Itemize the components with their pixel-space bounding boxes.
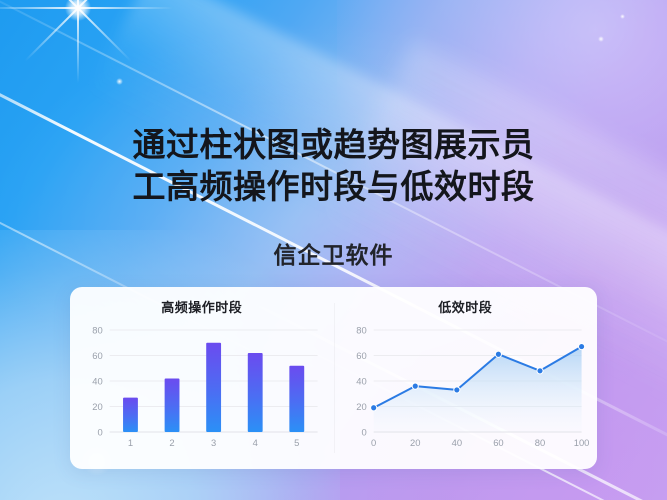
svg-text:60: 60 [356, 351, 366, 362]
svg-text:5: 5 [294, 438, 299, 449]
bar-chart-title: 高频操作时段 [78, 297, 326, 316]
lens-flare-icon [18, 0, 138, 68]
svg-text:60: 60 [493, 438, 503, 449]
page-title-line-1: 通过柱状图或趋势图展示员 [0, 124, 667, 166]
bar-chart-card: 高频操作时段 020406080 12345 [70, 287, 334, 469]
bar-chart-plot: 020406080 12345 [78, 320, 326, 458]
svg-text:60: 60 [92, 351, 102, 362]
line-chart-card: 低效时段 020406080 020406080100 [334, 287, 598, 469]
bar-chart-bars [123, 343, 304, 432]
svg-text:4: 4 [253, 438, 258, 449]
svg-text:1: 1 [128, 438, 133, 449]
svg-text:100: 100 [573, 438, 589, 449]
page-subtitle: 信企卫软件 [0, 236, 667, 270]
svg-text:3: 3 [211, 438, 216, 449]
line-chart-svg: 020406080 020406080100 [342, 320, 590, 458]
page-title: 通过柱状图或趋势图展示员 工高频操作时段与低效时段 [0, 124, 667, 208]
svg-text:20: 20 [410, 438, 420, 449]
line-chart-y-tick-labels: 020406080 [356, 325, 366, 438]
svg-text:0: 0 [371, 438, 376, 449]
svg-text:2: 2 [169, 438, 174, 449]
svg-text:20: 20 [92, 402, 102, 413]
sparkle-dot-2 [598, 36, 604, 42]
svg-text:40: 40 [356, 376, 366, 387]
svg-text:80: 80 [92, 325, 102, 336]
svg-text:0: 0 [361, 427, 366, 438]
page-title-line-2: 工高频操作时段与低效时段 [0, 166, 667, 208]
bar-chart-x-tick-labels: 12345 [128, 438, 300, 449]
svg-text:80: 80 [356, 325, 366, 336]
svg-text:20: 20 [356, 402, 366, 413]
bar-chart-y-tick-labels: 020406080 [92, 325, 102, 438]
line-chart-title: 低效时段 [342, 297, 590, 316]
svg-text:80: 80 [534, 438, 544, 449]
line-chart-x-tick-labels: 020406080100 [371, 438, 589, 449]
charts-panel: 高频操作时段 020406080 12345 [70, 287, 597, 469]
poster-canvas: 通过柱状图或趋势图展示员 工高频操作时段与低效时段 信企卫软件 高频操作时段 [0, 0, 667, 500]
line-chart-area-fill [373, 347, 581, 432]
bar-chart-svg: 020406080 12345 [78, 320, 326, 458]
svg-text:40: 40 [92, 376, 102, 387]
svg-text:40: 40 [451, 438, 461, 449]
line-chart-plot: 020406080 020406080100 [342, 320, 590, 458]
sparkle-dot-3 [620, 14, 625, 19]
svg-text:0: 0 [98, 427, 103, 438]
sparkle-dot-1 [116, 78, 123, 85]
